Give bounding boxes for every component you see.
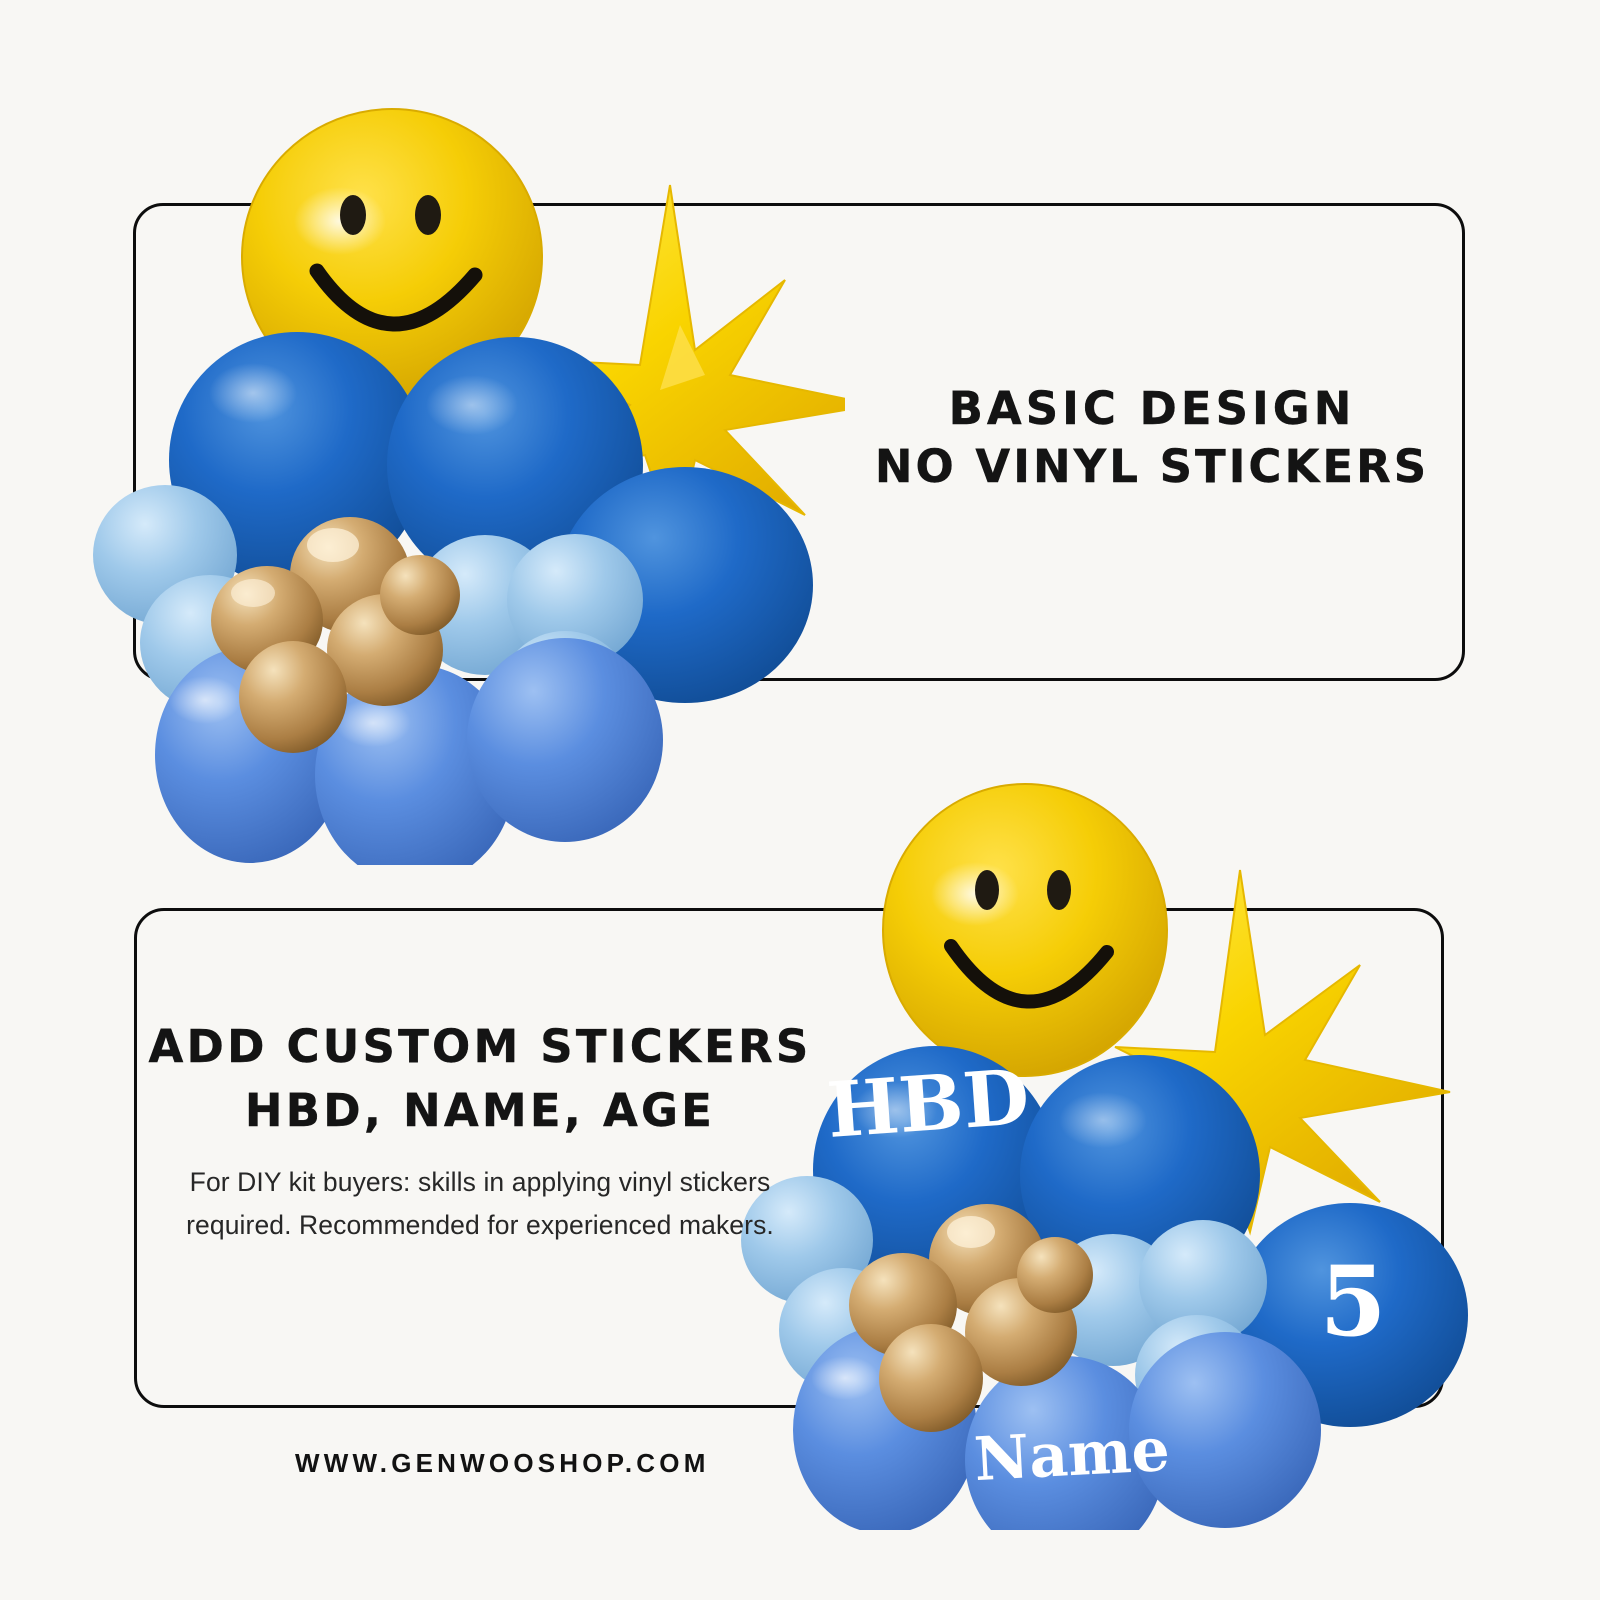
heading-line-2: HBD, NAME, AGE: [140, 1082, 820, 1140]
website-url[interactable]: WWW.GENWOOSHOP.COM: [295, 1448, 710, 1479]
smiley-face-balloon-icon: [883, 784, 1167, 1076]
balloon-gold-5: [1017, 1237, 1093, 1313]
balloon-gold-5: [380, 555, 460, 635]
heading-line-1: ADD CUSTOM STICKERS: [140, 1018, 820, 1076]
sticker-name: Name: [973, 1415, 1172, 1495]
panel-heading-custom-stickers: ADD CUSTOM STICKERS HBD, NAME, AGE For D…: [140, 1018, 820, 1247]
poster-canvas: BASIC DESIGN NO VINYL STICKERS: [0, 0, 1600, 1600]
panel-body-copy: For DIY kit buyers: skills in applying v…: [140, 1161, 820, 1247]
balloon-arrangement-custom: HBD 5 Name: [735, 770, 1495, 1530]
heading-line-1: BASIC DESIGN: [862, 380, 1442, 438]
sticker-age: 5: [1320, 1245, 1387, 1358]
balloon-arrangement-basic: [85, 75, 845, 865]
balloon-peri-3: [467, 638, 663, 842]
heading-line-2: NO VINYL STICKERS: [862, 438, 1442, 496]
sticker-hbd: HBD: [824, 1052, 1032, 1155]
panel-heading-basic-design: BASIC DESIGN NO VINYL STICKERS: [862, 380, 1442, 495]
balloon-gold-4: [879, 1324, 983, 1432]
balloon-gold-4: [239, 641, 347, 753]
